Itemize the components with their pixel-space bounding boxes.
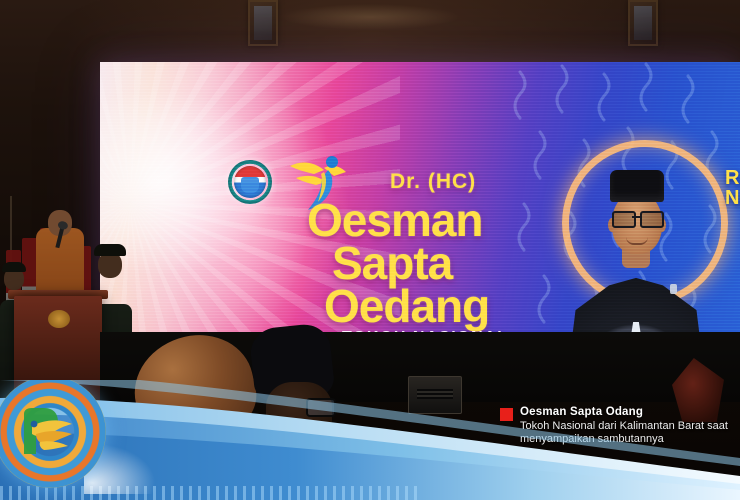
guard-left-beret — [2, 262, 26, 272]
screenshot-root: Dr. (HC) Oesman Sapta Oedang TOKOH NASIO… — [0, 0, 740, 500]
wall-light-glow — [280, 4, 460, 30]
wave-dot-pattern — [0, 486, 420, 500]
wall-framed-portrait-left — [248, 0, 278, 46]
bottom-wave-band — [0, 380, 740, 500]
led-stage-screen: Dr. (HC) Oesman Sapta Oedang TOKOH NASIO… — [100, 62, 740, 332]
podium-seal-emblem — [48, 310, 70, 328]
wall-framed-portrait-right — [628, 0, 658, 46]
watermark-bird-glyph — [14, 396, 86, 468]
guard-right-beret — [94, 244, 126, 256]
screen-scanlines — [100, 62, 740, 332]
